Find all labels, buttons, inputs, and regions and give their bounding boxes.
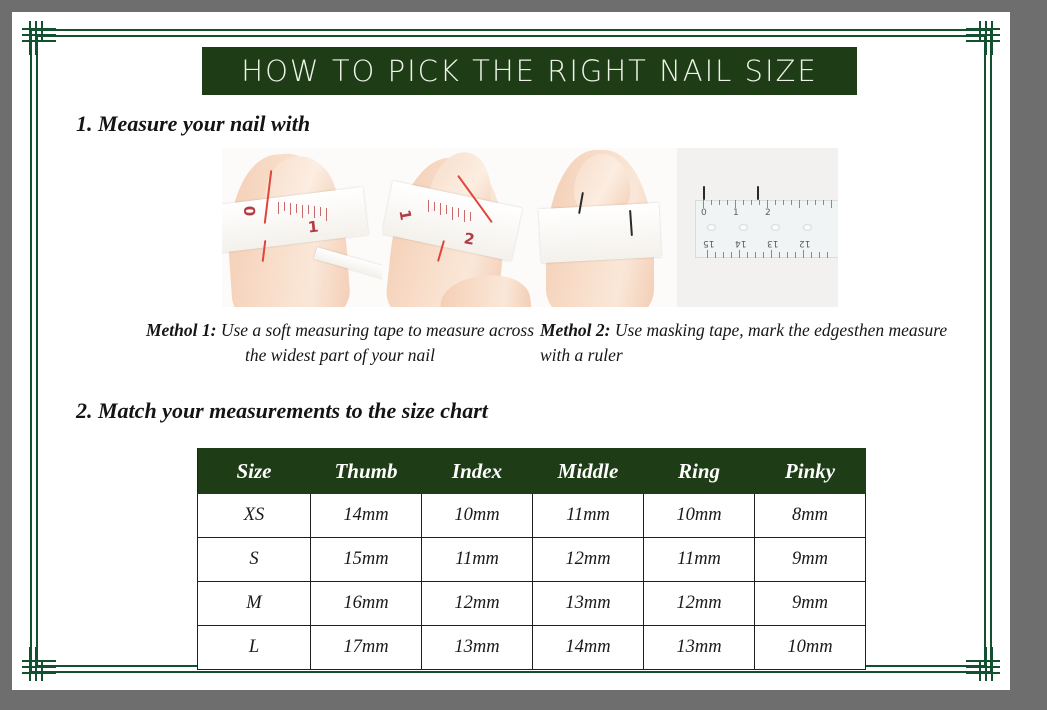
size-chart-table: Size Thumb Index Middle Ring Pinky XS 14…	[197, 448, 866, 670]
cell-size: XS	[198, 494, 311, 538]
table-row: XS 14mm 10mm 11mm 10mm 8mm	[198, 494, 866, 538]
step-1-heading: 1. Measure your nail with	[76, 111, 310, 137]
cell-size: S	[198, 538, 311, 582]
cell-index: 11mm	[422, 538, 533, 582]
cell-index: 13mm	[422, 626, 533, 670]
column-header-index: Index	[422, 449, 533, 494]
method-1-label: Methol 1:	[146, 320, 217, 340]
cell-ring: 11mm	[644, 538, 755, 582]
page-title: HOW TO PICK THE RIGHT NAIL SIZE	[241, 54, 817, 88]
table-row: L 17mm 13mm 14mm 13mm 10mm	[198, 626, 866, 670]
cell-pinky: 9mm	[755, 582, 866, 626]
step-2-heading: 2. Match your measurements to the size c…	[76, 398, 488, 424]
cell-pinky: 10mm	[755, 626, 866, 670]
method-2-caption: Methol 2: Use masking tape, mark the edg…	[540, 318, 960, 368]
cell-ring: 10mm	[644, 494, 755, 538]
title-banner: HOW TO PICK THE RIGHT NAIL SIZE	[202, 47, 857, 95]
cell-middle: 11mm	[533, 494, 644, 538]
instruction-photo-strip: 0 1 1 2	[222, 148, 838, 307]
cell-thumb: 16mm	[311, 582, 422, 626]
corner-ornament-top-right	[966, 21, 1000, 55]
cell-index: 12mm	[422, 582, 533, 626]
cell-middle: 14mm	[533, 626, 644, 670]
table-row: S 15mm 11mm 12mm 11mm 9mm	[198, 538, 866, 582]
page-sheet: HOW TO PICK THE RIGHT NAIL SIZE 1. Measu…	[12, 12, 1010, 690]
cell-pinky: 9mm	[755, 538, 866, 582]
column-header-ring: Ring	[644, 449, 755, 494]
cell-pinky: 8mm	[755, 494, 866, 538]
cell-thumb: 15mm	[311, 538, 422, 582]
table-row: M 16mm 12mm 13mm 12mm 9mm	[198, 582, 866, 626]
photo-finger-measuring-tape-zero: 0 1	[222, 148, 382, 307]
cell-size: M	[198, 582, 311, 626]
method-1-caption: Methol 1: Use a soft measuring tape to m…	[140, 318, 540, 368]
table-header-row: Size Thumb Index Middle Ring Pinky	[198, 449, 866, 494]
corner-ornament-bottom-left	[22, 647, 56, 681]
cell-thumb: 14mm	[311, 494, 422, 538]
corner-ornament-bottom-right	[966, 647, 1000, 681]
cell-thumb: 17mm	[311, 626, 422, 670]
column-header-middle: Middle	[533, 449, 644, 494]
column-header-thumb: Thumb	[311, 449, 422, 494]
photo-finger-measuring-tape-two: 1 2	[382, 148, 532, 307]
photo-finger-masking-tape	[532, 148, 677, 307]
column-header-pinky: Pinky	[755, 449, 866, 494]
column-header-size: Size	[198, 449, 311, 494]
method-2-label: Methol 2:	[540, 320, 611, 340]
cell-ring: 13mm	[644, 626, 755, 670]
method-1-text: Use a soft measuring tape to measure acr…	[216, 320, 534, 365]
photo-ruler-measurement: 0 1 2 15 14 13 12	[677, 148, 838, 307]
cell-ring: 12mm	[644, 582, 755, 626]
cell-middle: 13mm	[533, 582, 644, 626]
cell-index: 10mm	[422, 494, 533, 538]
corner-ornament-top-left	[22, 21, 56, 55]
cell-size: L	[198, 626, 311, 670]
cell-middle: 12mm	[533, 538, 644, 582]
